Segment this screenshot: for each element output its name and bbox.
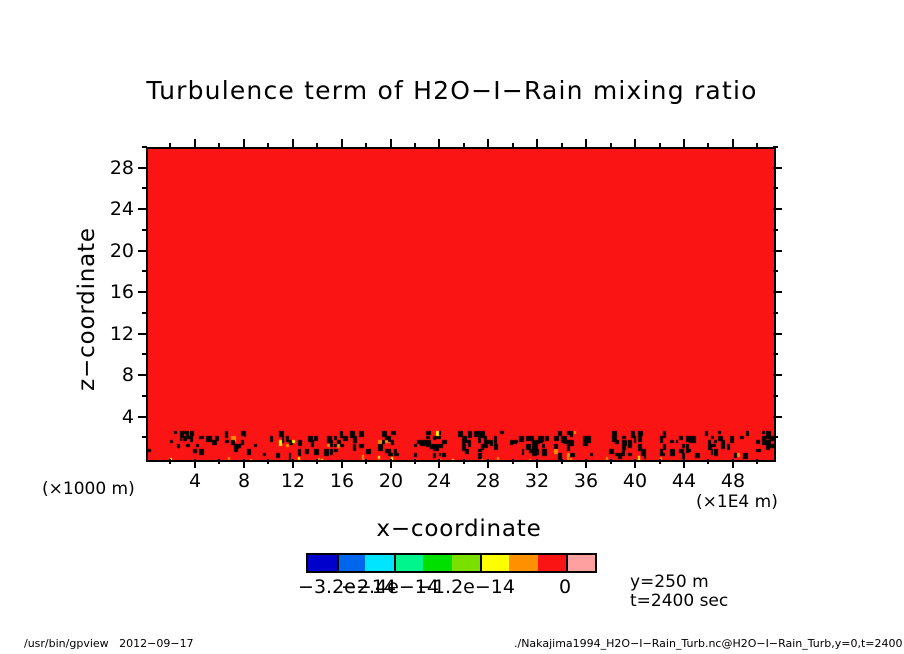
y-axis-title: z−coordinate [74, 209, 100, 409]
x-tick-top [756, 143, 758, 148]
y-tick-major [138, 374, 147, 376]
slice-y-label: y=250 m [630, 573, 728, 592]
x-tick-top [659, 143, 661, 148]
x-tick-minor [707, 459, 709, 464]
x-tick-major [194, 459, 196, 468]
y-axis-unit-label: (×1000 m) [42, 479, 135, 499]
colorbar-segment [423, 555, 452, 571]
colorbar-segment [337, 555, 366, 571]
y-tick-minor [142, 353, 147, 355]
y-tick-right [773, 395, 778, 397]
x-tick-minor [414, 459, 416, 464]
x-tick-minor [365, 459, 367, 464]
x-tick-major [634, 459, 636, 468]
x-tick-top [683, 139, 685, 148]
y-tick-right [773, 167, 782, 169]
x-tick-minor [169, 459, 171, 464]
x-tick-minor [218, 459, 220, 464]
x-tick-top [267, 143, 269, 148]
y-tick-major [138, 208, 147, 210]
x-tick-top [512, 143, 514, 148]
y-tick-right [773, 436, 778, 438]
y-tick-right [773, 291, 782, 293]
y-tick-minor [142, 312, 147, 314]
x-axis-title: x−coordinate [146, 516, 772, 542]
y-tick-right [773, 312, 778, 314]
x-tick-minor [316, 459, 318, 464]
x-tick-label: 48 [703, 470, 763, 492]
x-tick-top [536, 139, 538, 148]
x-tick-top [341, 139, 343, 148]
footer-source: ./Nakajima1994_H2O−I−Rain_Turb.nc@H2O−I−… [514, 637, 903, 650]
colorbar [306, 553, 597, 573]
y-tick-minor [142, 146, 147, 148]
y-tick-minor [142, 270, 147, 272]
colorbar-segment [308, 555, 337, 571]
x-tick-major [536, 459, 538, 468]
x-tick-minor [659, 459, 661, 464]
x-tick-top [194, 139, 196, 148]
y-tick-right [773, 250, 782, 252]
y-tick-major [138, 250, 147, 252]
x-tick-top [463, 143, 465, 148]
y-tick-right [773, 374, 782, 376]
x-tick-major [438, 459, 440, 468]
x-tick-minor [267, 459, 269, 464]
x-tick-top [365, 143, 367, 148]
x-tick-minor [463, 459, 465, 464]
y-tick-minor [142, 436, 147, 438]
y-tick-right [773, 187, 778, 189]
x-tick-minor [512, 459, 514, 464]
colorbar-segment [509, 555, 538, 571]
x-tick-top [243, 139, 245, 148]
y-tick-major [138, 167, 147, 169]
y-tick-right [773, 146, 778, 148]
plot-area [146, 147, 776, 462]
x-tick-top [169, 143, 171, 148]
x-axis-unit-label: (×1E4 m) [696, 492, 778, 512]
x-tick-top [610, 143, 612, 148]
y-tick-minor [142, 395, 147, 397]
y-tick-label: 28 [88, 157, 134, 179]
slice-time-label: t=2400 sec [630, 592, 728, 611]
x-tick-minor [561, 459, 563, 464]
colorbar-label: 0 [505, 576, 625, 598]
colorbar-segment [394, 555, 423, 571]
colorbar-segment [452, 555, 481, 571]
colorbar-segment [480, 555, 509, 571]
y-tick-minor [142, 187, 147, 189]
x-tick-major [487, 459, 489, 468]
y-tick-right [773, 229, 778, 231]
x-tick-top [292, 139, 294, 148]
heatmap-field [148, 149, 774, 460]
x-tick-major [341, 459, 343, 468]
footer-command: /usr/bin/gpview 2012−09−17 [24, 637, 194, 650]
y-tick-major [138, 416, 147, 418]
x-tick-minor [610, 459, 612, 464]
x-tick-top [390, 139, 392, 148]
y-tick-major [138, 291, 147, 293]
y-tick-right [773, 416, 782, 418]
y-tick-label: 4 [88, 406, 134, 428]
x-tick-top [707, 143, 709, 148]
x-tick-top [634, 139, 636, 148]
x-tick-minor [756, 459, 758, 464]
colorbar-segment [365, 555, 394, 571]
colorbar-segment [538, 555, 567, 571]
x-tick-major [585, 459, 587, 468]
x-tick-top [487, 139, 489, 148]
colorbar-segment [566, 555, 595, 571]
y-tick-right [773, 333, 782, 335]
x-tick-top [732, 139, 734, 148]
y-tick-right [773, 208, 782, 210]
x-tick-major [390, 459, 392, 468]
x-tick-top [438, 139, 440, 148]
y-tick-minor [142, 229, 147, 231]
x-tick-top [414, 143, 416, 148]
x-tick-top [585, 139, 587, 148]
x-tick-top [316, 143, 318, 148]
x-tick-major [292, 459, 294, 468]
y-tick-major [138, 333, 147, 335]
x-tick-major [243, 459, 245, 468]
x-tick-major [683, 459, 685, 468]
y-tick-right [773, 353, 778, 355]
slice-annotation: y=250 mt=2400 sec [630, 573, 728, 611]
page-title: Turbulence term of H2O−I−Rain mixing rat… [0, 76, 904, 105]
x-tick-major [732, 459, 734, 468]
x-tick-top [218, 143, 220, 148]
y-tick-right [773, 270, 778, 272]
x-tick-top [561, 143, 563, 148]
